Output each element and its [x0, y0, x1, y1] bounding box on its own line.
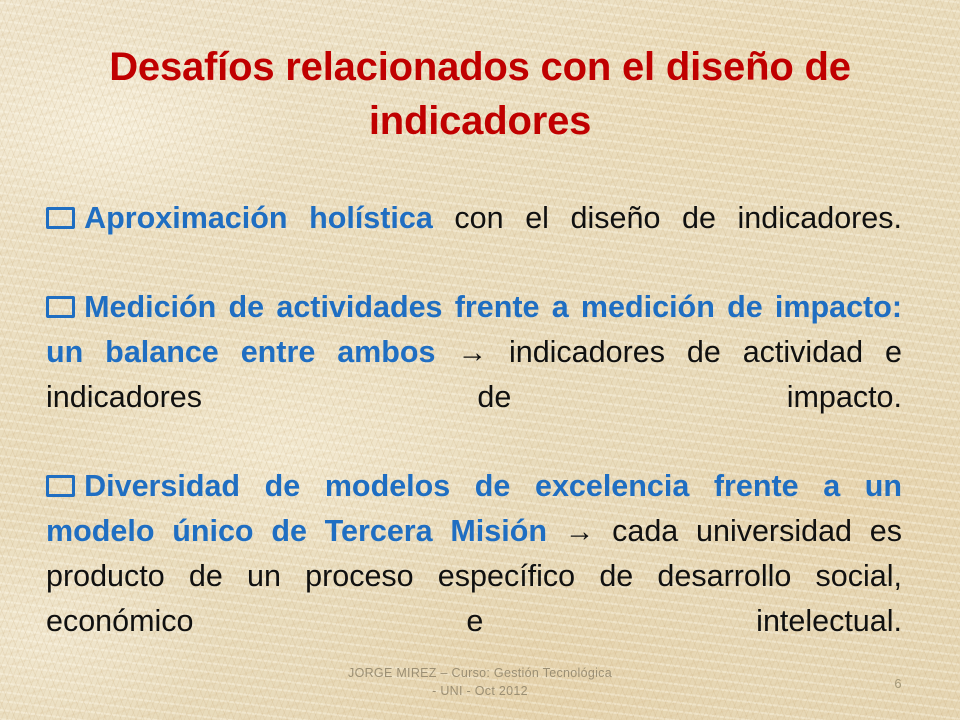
right-arrow-icon: →	[565, 515, 595, 548]
list-item: Diversidad de modelos de excelencia fren…	[46, 464, 902, 688]
slide-footer: JORGE MIREZ – Curso: Gestión Tecnológica…	[0, 664, 960, 700]
list-item: Medición de actividades frente a medició…	[46, 285, 902, 464]
square-bullet-icon	[46, 207, 75, 229]
bullet-list: Aproximación holística con el diseño de …	[46, 196, 902, 688]
page-title: Desafíos relacionados con el diseño de i…	[36, 40, 924, 148]
slide-canvas: Desafíos relacionados con el diseño de i…	[0, 0, 960, 720]
square-bullet-icon	[46, 296, 75, 318]
title-line-1: Desafíos relacionados con el diseño de	[109, 45, 851, 89]
bullet-rest: con el diseño de indicadores.	[433, 201, 902, 235]
page-number: 6	[884, 676, 912, 691]
title-line-2: indicadores	[369, 99, 591, 143]
right-arrow-icon: →	[457, 336, 487, 369]
bullet-highlight: Aproximación holística	[84, 201, 433, 235]
square-bullet-icon	[46, 475, 75, 497]
list-item: Aproximación holística con el diseño de …	[46, 196, 902, 285]
footer-line-1: JORGE MIREZ – Curso: Gestión Tecnológica	[0, 664, 960, 682]
footer-line-2: - UNI - Oct 2012	[0, 682, 960, 700]
